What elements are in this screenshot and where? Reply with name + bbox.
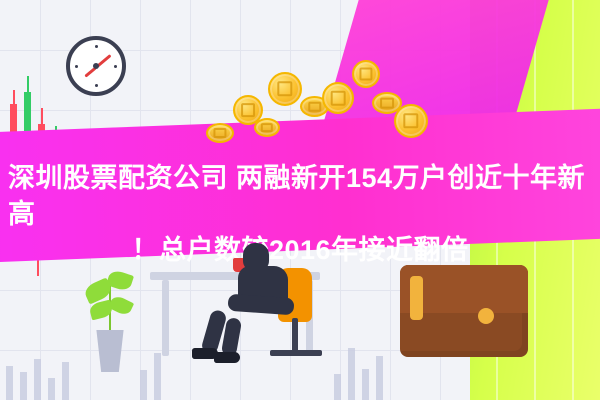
- volume-bar: [376, 356, 383, 400]
- wallet-button: [478, 308, 494, 324]
- volume-bar: [154, 353, 161, 400]
- volume-bar: [20, 372, 27, 400]
- volume-bar: [62, 362, 69, 400]
- volume-bar: [48, 378, 55, 400]
- volume-bar: [362, 369, 369, 400]
- volume-bar: [348, 348, 355, 400]
- wallet-strap: [410, 276, 423, 320]
- desk-leg: [162, 280, 169, 356]
- coin: [268, 72, 302, 106]
- volume-bar: [34, 359, 41, 400]
- volume-bar: [334, 374, 341, 400]
- chair-post: [292, 318, 298, 352]
- coin: [206, 123, 234, 143]
- chair-base: [270, 350, 322, 356]
- coin: [352, 60, 380, 88]
- coin: [394, 104, 428, 138]
- news-thumbnail-image: 深圳股票配资公司 两融新开154万户创近十年新高 ！总户数较2016年接近翻倍: [0, 0, 600, 400]
- person-shoe: [214, 352, 240, 363]
- headline-line-1: 深圳股票配资公司 两融新开154万户创近十年新高: [8, 163, 585, 229]
- coin: [254, 118, 280, 137]
- volume-bar: [140, 370, 147, 400]
- coin: [322, 82, 354, 114]
- headline-text: 深圳股票配资公司 两融新开154万户创近十年新高 ！总户数较2016年接近翻倍: [8, 160, 592, 268]
- volume-bar: [6, 366, 13, 400]
- headline-line-2: ！总户数较2016年接近翻倍: [8, 232, 592, 268]
- wall-clock-icon: [66, 36, 126, 96]
